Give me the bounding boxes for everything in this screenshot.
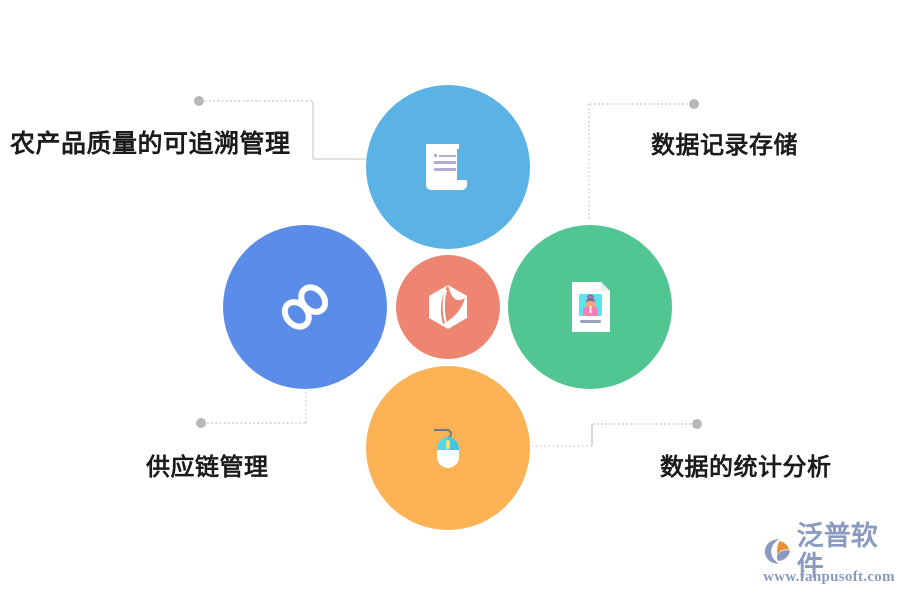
fanpu-logo-mark-icon (764, 536, 793, 566)
label-data-record: 数据记录存储 (651, 125, 798, 160)
node-computer-mouse[interactable] (366, 366, 530, 530)
label-supply-chain: 供应链管理 (146, 447, 269, 482)
scroll-document-icon (413, 132, 483, 202)
diagram-canvas: 农产品质量的可追溯管理 数据记录存储 供应链管理 数据的统计分析 泛普软件 ww… (0, 0, 900, 600)
connector-bottom-left (196, 388, 306, 428)
connector-dot-bottom-right (692, 419, 702, 429)
connector-dot-top-left (194, 96, 204, 106)
logo-row: 泛普软件 (764, 534, 894, 568)
node-id-card[interactable] (508, 225, 672, 389)
connector-bottom-right (532, 419, 702, 446)
hexagon-leaf-icon (421, 280, 475, 334)
connector-dot-bottom-left (196, 418, 206, 428)
node-chain-link[interactable] (223, 225, 387, 389)
id-card-icon (557, 274, 623, 340)
node-scroll-document[interactable] (366, 85, 530, 249)
connector-dot-top-right (689, 99, 699, 109)
logo-website-url: www.fanpusoft.com (763, 569, 895, 586)
label-statistics: 数据的统计分析 (660, 447, 832, 482)
node-hexagon-leaf[interactable] (396, 255, 500, 359)
label-traceability: 农产品质量的可追溯管理 (10, 124, 291, 160)
computer-mouse-icon (416, 416, 480, 480)
chain-link-icon (269, 271, 341, 343)
brand-logo: 泛普软件 www.fanpusoft.com (764, 534, 894, 596)
